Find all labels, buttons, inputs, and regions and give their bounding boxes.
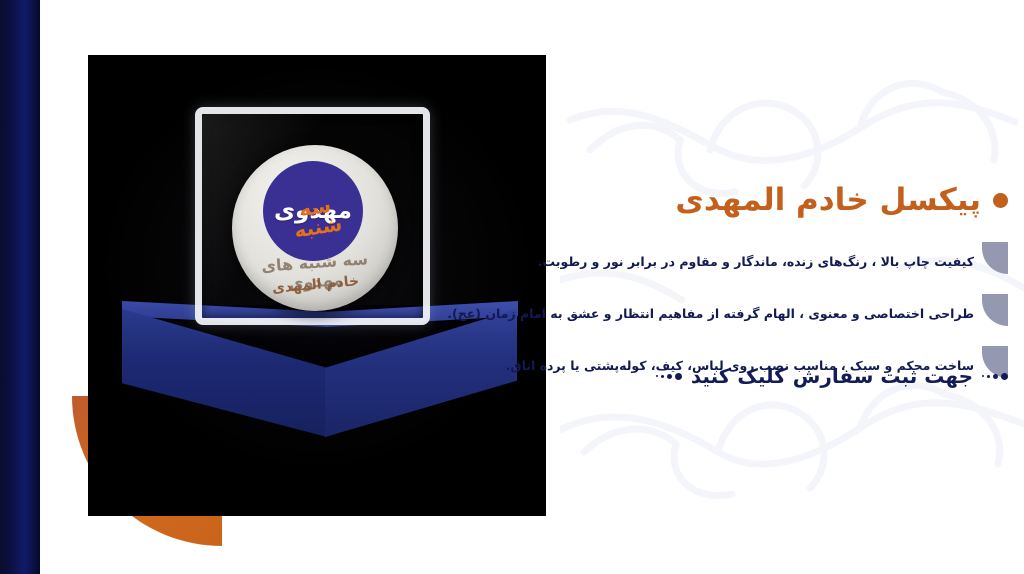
- list-item: کیفیت چاپ بالا ، رنگ‌های زنده، ماندگار و…: [572, 244, 1008, 280]
- bullet-marker-icon: [982, 242, 1008, 274]
- feature-text: طراحی اختصاصی و معنوی ، الهام گرفته از م…: [447, 305, 974, 323]
- cta-dots-left-icon: [656, 373, 682, 380]
- cta-dots-right-icon: [982, 373, 1008, 380]
- poster-canvas: مهدوی سه شنبه سه شنبه های مهدوی خادم الم…: [0, 0, 1024, 574]
- order-cta[interactable]: جهت ثبت سفارش کلیک کنید: [572, 364, 1008, 388]
- order-cta-label: جهت ثبت سفارش کلیک کنید: [691, 364, 973, 388]
- page-title-text: پیکسل خادم المهدی: [675, 182, 981, 219]
- product-photo: مهدوی سه شنبه سه شنبه های مهدوی خادم الم…: [88, 55, 546, 516]
- title-bullet-icon: [993, 193, 1008, 208]
- pin-badge: مهدوی سه شنبه سه شنبه های مهدوی خادم الم…: [232, 145, 398, 311]
- content-panel: پیکسل خادم المهدی کیفیت چاپ بالا ، رنگ‌ه…: [560, 0, 1024, 574]
- navy-edge-stripe: [0, 0, 40, 574]
- list-item: طراحی اختصاصی و معنوی ، الهام گرفته از م…: [572, 296, 1008, 332]
- bullet-marker-icon: [982, 294, 1008, 326]
- page-title: پیکسل خادم المهدی: [578, 182, 1008, 219]
- feature-text: کیفیت چاپ بالا ، رنگ‌های زنده، ماندگار و…: [538, 253, 974, 271]
